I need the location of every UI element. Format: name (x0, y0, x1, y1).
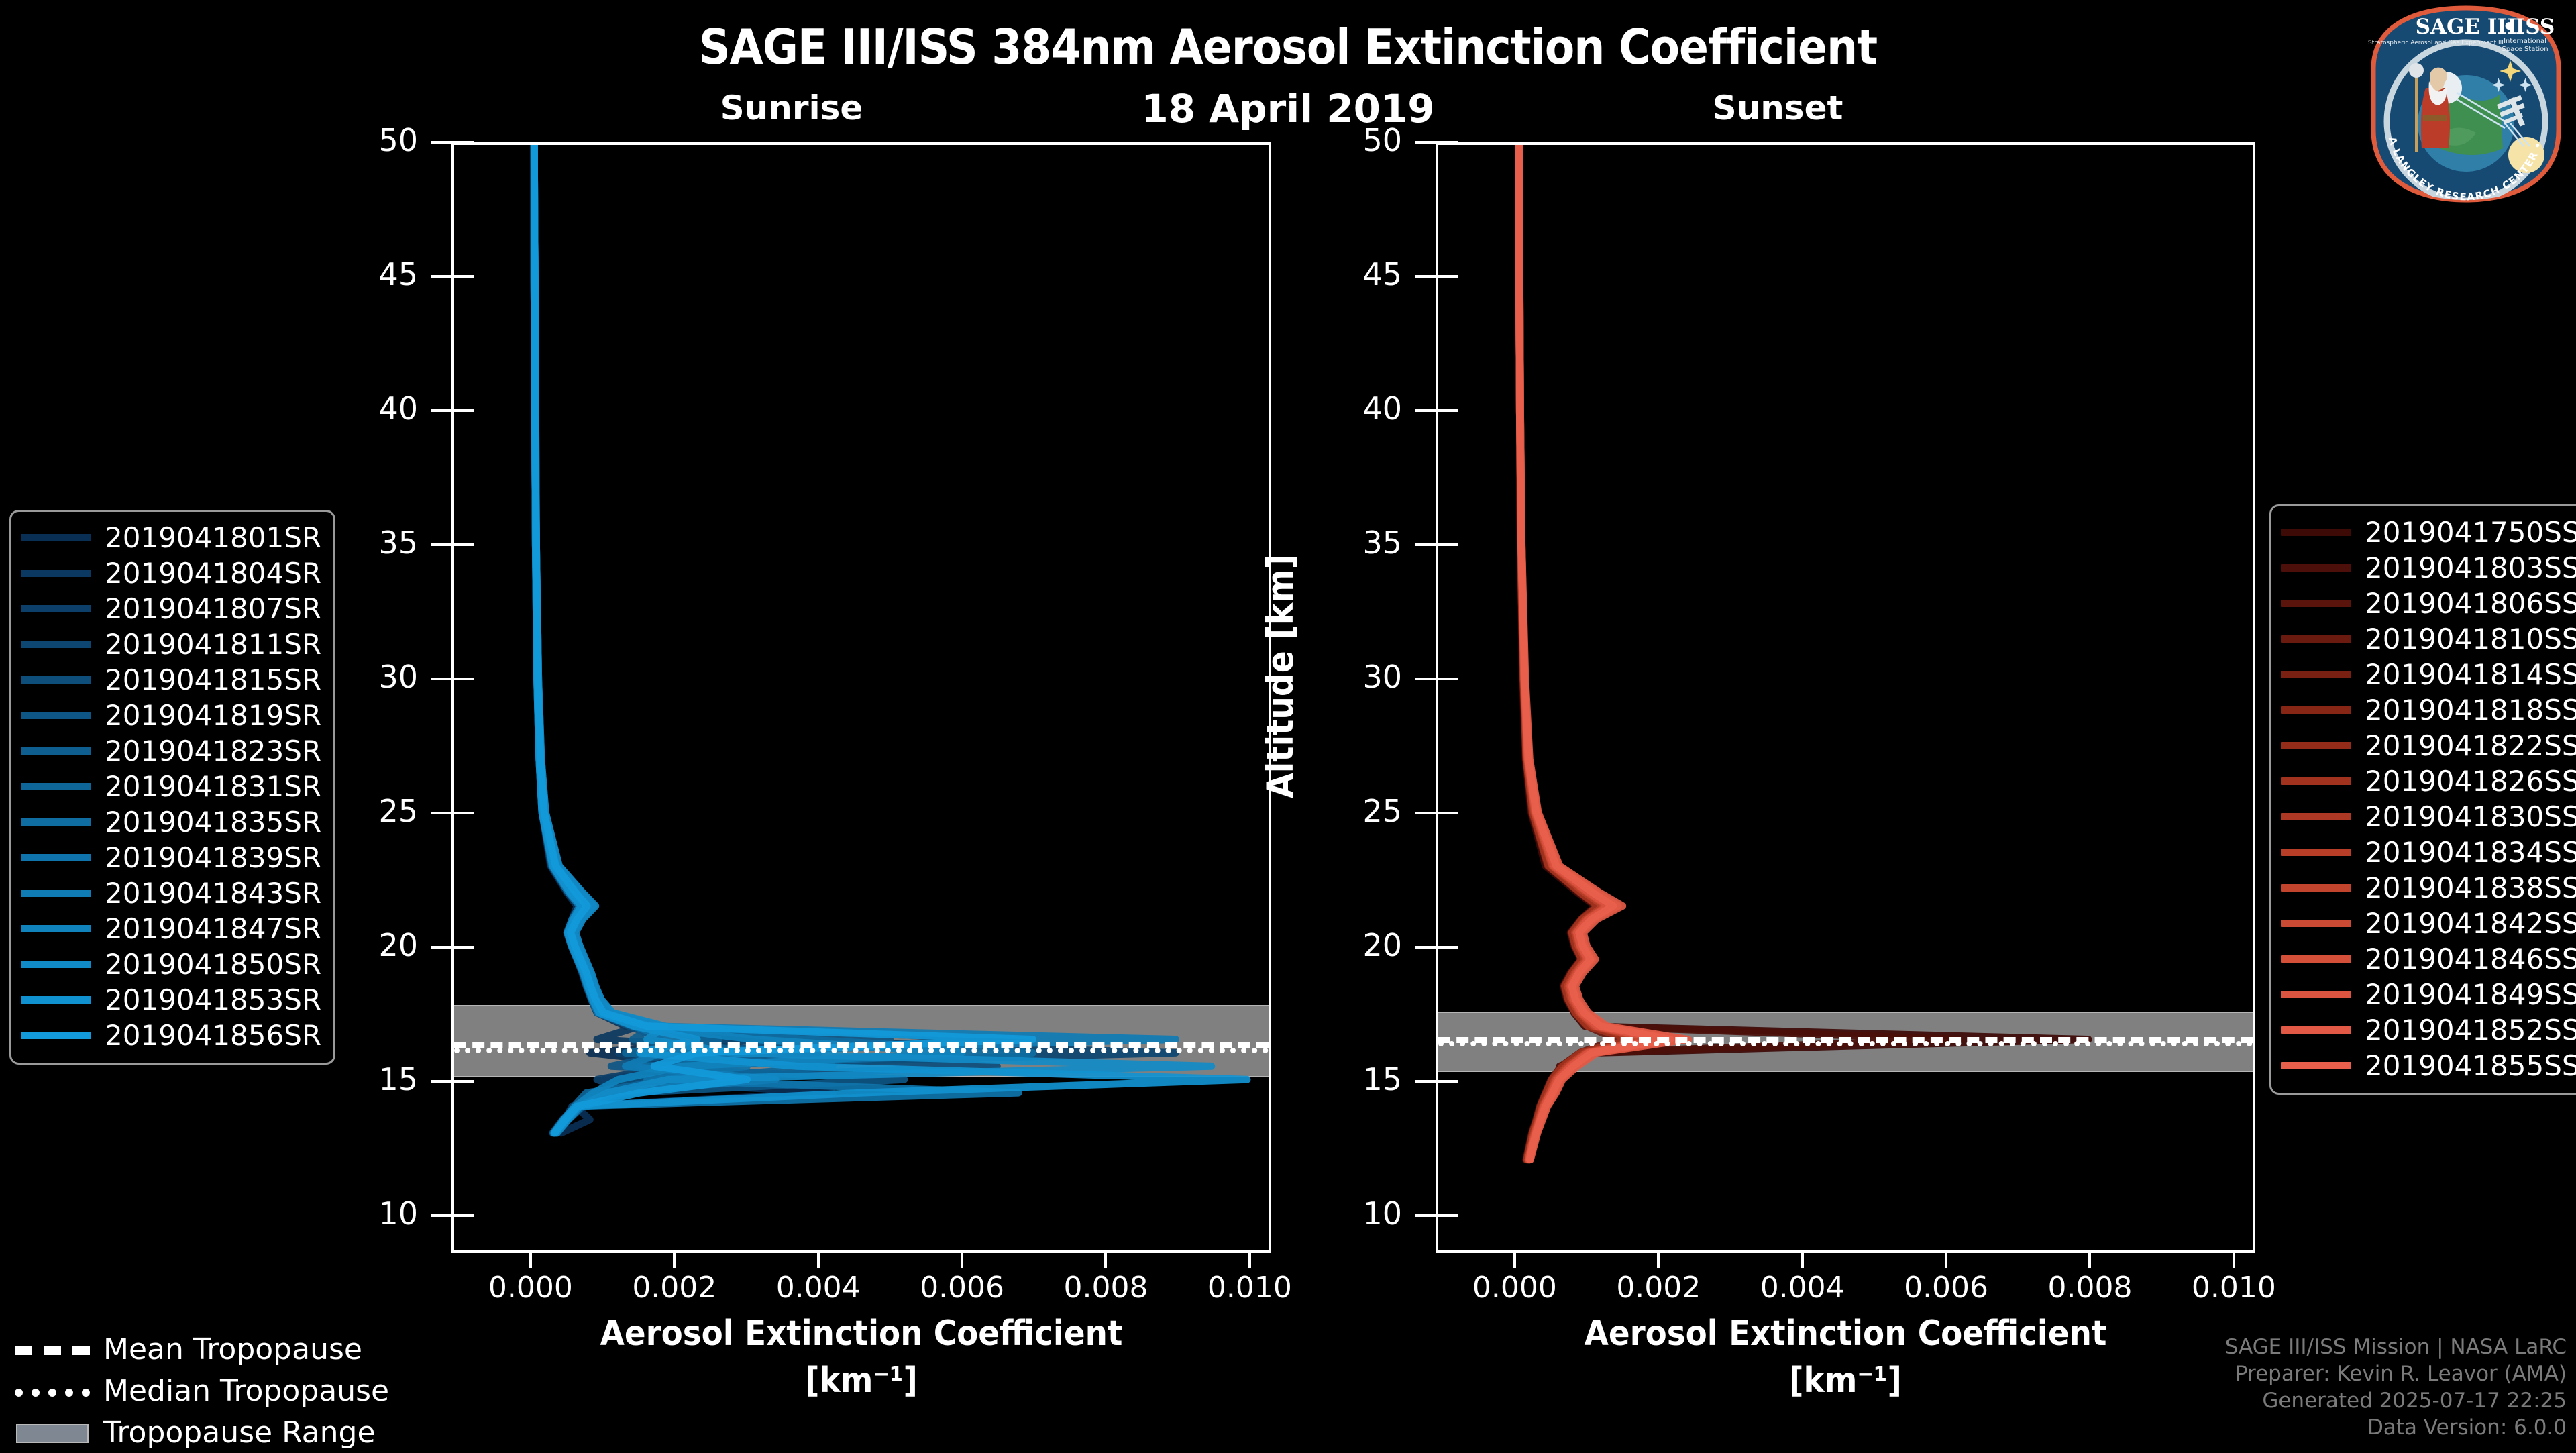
x-axis-tick (1248, 1253, 1251, 1268)
y-axis-tick (1415, 946, 1458, 949)
legend-item[interactable]: 2019041849SS (2281, 977, 2576, 1012)
legend-item[interactable]: 2019041815SR (21, 662, 321, 698)
legend-label: 2019041831SR (105, 770, 321, 803)
legend-item[interactable]: 2019041811SR (21, 627, 321, 662)
legend-label: 2019041846SS (2365, 943, 2576, 975)
y-axis-tick (431, 1080, 474, 1083)
y-axis-tick-label: 40 (1301, 390, 1402, 427)
legend-color-swatch (2281, 635, 2351, 643)
profile-line (1519, 145, 2088, 1160)
tropopause-range-label: Tropopause Range (103, 1415, 376, 1450)
legend-color-swatch (2281, 600, 2351, 607)
legend-item[interactable]: 2019041814SS (2281, 657, 2576, 692)
legend-item[interactable]: 2019041801SR (21, 520, 321, 555)
sunset-plot-area (1436, 142, 2255, 1253)
profile-line (1519, 145, 1688, 1160)
sunrise-profile-curves (454, 145, 1269, 1250)
legend-label: 2019041803SS (2365, 551, 2576, 584)
mean-tropopause-line-right (1438, 1037, 2253, 1043)
legend-item[interactable]: 2019041856SR (21, 1018, 321, 1053)
y-axis-tick (1415, 1080, 1458, 1083)
legend-color-swatch (2281, 564, 2351, 572)
profile-line (534, 145, 1032, 1133)
legend-label: 2019041830SS (2365, 800, 2576, 833)
legend-label: 2019041835SR (105, 806, 321, 839)
median-tropopause-line-left (454, 1048, 1269, 1053)
legend-item[interactable]: 2019041834SS (2281, 835, 2576, 870)
legend-label: 2019041818SS (2365, 694, 2576, 726)
legend-label: 2019041819SR (105, 699, 321, 732)
legend-color-swatch (21, 925, 91, 932)
legend-color-swatch (21, 641, 91, 648)
legend-color-swatch (2281, 1026, 2351, 1034)
logo-subtitle-right-1: International (2504, 38, 2546, 45)
legend-item[interactable]: 2019041842SS (2281, 906, 2576, 941)
legend-color-swatch (21, 712, 91, 719)
profile-line (1519, 145, 1617, 1160)
legend-item[interactable]: 2019041852SS (2281, 1012, 2576, 1048)
date-label: 18 April 2019 (1046, 86, 1529, 131)
legend-color-swatch (21, 570, 91, 577)
legend-label: 2019041852SS (2365, 1014, 2576, 1046)
profile-line (534, 145, 1175, 1133)
footer-generated: Generated 2025-07-17 22:25 (2225, 1387, 2567, 1414)
x-axis-tick (1657, 1253, 1660, 1268)
logo-separator: • (2502, 15, 2516, 39)
legend-item[interactable]: 2019041804SR (21, 555, 321, 591)
legend-label: 2019041822SS (2365, 729, 2576, 762)
legend-item[interactable]: 2019041810SS (2281, 621, 2576, 657)
legend-label: 2019041850SR (105, 948, 321, 981)
x-axis-tick-label: 0.000 (1441, 1271, 1589, 1305)
x-axis-units-right: [km⁻¹] (1436, 1360, 2255, 1401)
legend-item[interactable]: 2019041803SS (2281, 550, 2576, 586)
legend-label: 2019041806SS (2365, 587, 2576, 620)
legend-label: 2019041807SR (105, 592, 321, 625)
legend-color-swatch (2281, 671, 2351, 678)
legend-color-swatch (21, 890, 91, 897)
profile-line (534, 145, 1032, 1133)
x-axis-tick-label: 0.008 (1032, 1271, 1179, 1305)
profile-line (534, 145, 1247, 1133)
legend-item[interactable]: 2019041819SR (21, 698, 321, 733)
legend-color-swatch (21, 996, 91, 1004)
sunrise-legend[interactable]: 2019041801SR2019041804SR2019041807SR2019… (9, 510, 335, 1065)
y-axis-tick-label: 50 (1301, 122, 1402, 158)
legend-color-swatch (2281, 529, 2351, 536)
x-axis-tick-label: 0.006 (1872, 1271, 2020, 1305)
legend-item[interactable]: 2019041838SS (2281, 870, 2576, 906)
logo-subtitle-right-2: Space Station (2502, 46, 2548, 53)
x-axis-tick-label: 0.008 (2016, 1271, 2163, 1305)
legend-item[interactable]: 2019041855SS (2281, 1048, 2576, 1083)
legend-item[interactable]: 2019041831SR (21, 769, 321, 804)
x-axis-tick-label: 0.010 (1176, 1271, 1324, 1305)
y-axis-tick (431, 812, 474, 814)
x-axis-tick-label: 0.004 (745, 1271, 892, 1305)
x-axis-title-left: Aerosol Extinction Coefficient (451, 1313, 1271, 1354)
page-title: SAGE III/ISS 384nm Aerosol Extinction Co… (0, 19, 2576, 75)
legend-item[interactable]: 2019041847SR (21, 911, 321, 947)
sunset-panel-label: Sunset (1610, 89, 1945, 127)
x-axis-tick-label: 0.000 (457, 1271, 604, 1305)
y-axis-tick (1415, 543, 1458, 546)
legend-item[interactable]: 2019041839SR (21, 840, 321, 875)
x-axis-tick-label: 0.006 (888, 1271, 1036, 1305)
legend-label: 2019041838SS (2365, 871, 2576, 904)
legend-label: 2019041849SS (2365, 978, 2576, 1011)
legend-item[interactable]: 2019041818SS (2281, 692, 2576, 728)
x-axis-tick-label: 0.002 (1585, 1271, 1732, 1305)
legend-label: 2019041823SR (105, 735, 321, 767)
y-axis-tick (431, 1214, 474, 1217)
legend-label: 2019041834SS (2365, 836, 2576, 869)
y-axis-tick-label: 45 (1301, 256, 1402, 292)
dotted-line-icon (15, 1382, 90, 1399)
x-axis-tick (1945, 1253, 1947, 1268)
y-axis-tick (1415, 1214, 1458, 1217)
x-axis-tick-label: 0.002 (600, 1271, 748, 1305)
legend-label: 2019041811SR (105, 628, 321, 661)
legend-item-mean-tropopause: Mean Tropopause (15, 1328, 389, 1370)
x-axis-tick (673, 1253, 676, 1268)
legend-item[interactable]: 2019041853SR (21, 982, 321, 1018)
logo-title: SAGE III (2416, 15, 2517, 39)
x-axis-tick (2088, 1253, 2091, 1268)
legend-color-swatch (2281, 884, 2351, 892)
y-axis-tick-label: 10 (317, 1195, 418, 1232)
footer-preparer: Preparer: Kevin R. Leavor (AMA) (2225, 1360, 2567, 1387)
legend-color-swatch (21, 747, 91, 755)
legend-label: 2019041826SS (2365, 765, 2576, 798)
legend-label: 2019041842SS (2365, 907, 2576, 940)
legend-color-swatch (21, 534, 91, 541)
legend-item[interactable]: 2019041807SR (21, 591, 321, 627)
mean-tropopause-line-left (454, 1042, 1269, 1048)
legend-item[interactable]: 2019041843SR (21, 875, 321, 911)
legend-color-swatch (2281, 742, 2351, 749)
y-axis-tick-label: 45 (317, 256, 418, 292)
x-axis-tick (529, 1253, 532, 1268)
legend-item[interactable]: 2019041822SS (2281, 728, 2576, 763)
y-axis-tick-label: 40 (317, 390, 418, 427)
legend-item-tropopause-range: Tropopause Range (15, 1411, 389, 1453)
profile-line (534, 145, 1018, 1133)
legend-color-swatch (2281, 706, 2351, 714)
y-axis-tick (431, 543, 474, 546)
legend-color-swatch (2281, 920, 2351, 927)
legend-label: 2019041815SR (105, 663, 321, 696)
y-axis-tick-label: 15 (317, 1061, 418, 1097)
legend-label: 2019041847SR (105, 912, 321, 945)
profile-line (1519, 145, 1681, 1160)
sunset-profile-curves (1438, 145, 2253, 1250)
y-axis-tick-label: 10 (1301, 1195, 1402, 1232)
profile-line (534, 145, 997, 1133)
mean-tropopause-label: Mean Tropopause (103, 1332, 362, 1366)
legend-label: 2019041804SR (105, 557, 321, 590)
legend-color-swatch (21, 818, 91, 826)
legend-color-swatch (21, 1032, 91, 1039)
profile-line (534, 145, 1212, 1133)
legend-item[interactable]: 2019041806SS (2281, 586, 2576, 621)
sunrise-panel-label: Sunrise (624, 89, 959, 127)
y-axis-tick (431, 678, 474, 680)
legend-color-swatch (21, 961, 91, 968)
x-axis-tick (2233, 1253, 2235, 1268)
legend-label: 2019041814SS (2365, 658, 2576, 691)
y-axis-tick-label: 15 (1301, 1061, 1402, 1097)
profile-line (1519, 145, 1670, 1160)
sunset-legend[interactable]: 2019041750SS2019041803SS2019041806SS2019… (2269, 504, 2576, 1095)
legend-color-swatch (21, 854, 91, 861)
legend-item[interactable]: 2019041750SS (2281, 515, 2576, 550)
median-tropopause-label: Median Tropopause (103, 1374, 389, 1408)
y-axis-tick (1415, 812, 1458, 814)
y-axis-tick (431, 275, 474, 278)
legend-item[interactable]: 2019041826SS (2281, 763, 2576, 799)
legend-color-swatch (21, 676, 91, 684)
y-axis-tick (431, 141, 474, 144)
filled-band-icon (15, 1423, 90, 1441)
profile-line (534, 145, 833, 1133)
x-axis-tick (1104, 1253, 1107, 1268)
profile-line (534, 145, 768, 1133)
legend-color-swatch (2281, 777, 2351, 785)
x-axis-tick-label: 0.004 (1729, 1271, 1876, 1305)
legend-color-swatch (21, 605, 91, 612)
legend-item[interactable]: 2019041835SR (21, 804, 321, 840)
y-axis-tick (1415, 141, 1458, 144)
sage-iii-iss-logo-icon: SAGE III • ISS Stratospheric Aerosol and… (2365, 4, 2567, 205)
legend-label: 2019041839SR (105, 841, 321, 874)
y-axis-tick (431, 946, 474, 949)
y-axis-tick (1415, 678, 1458, 680)
profile-line (1519, 145, 1674, 1160)
profile-line (1519, 145, 1660, 1160)
tropopause-legend: Mean Tropopause Median Tropopause Tropop… (15, 1328, 389, 1453)
y-axis-tick-label: 35 (1301, 525, 1402, 561)
profile-line (1519, 145, 1660, 1160)
legend-color-swatch (2281, 813, 2351, 820)
x-axis-units-left: [km⁻¹] (451, 1360, 1271, 1401)
profile-line (534, 145, 1032, 1133)
dashed-line-icon (15, 1340, 90, 1358)
legend-color-swatch (21, 783, 91, 790)
legend-item[interactable]: 2019041846SS (2281, 941, 2576, 977)
legend-color-swatch (2281, 1062, 2351, 1069)
profile-line (534, 145, 833, 1133)
logo-subtitle-left: Stratospheric Aerosol and Gas Experiment… (2368, 40, 2504, 46)
x-axis-title-right: Aerosol Extinction Coefficient (1436, 1313, 2255, 1354)
y-axis-tick (1415, 409, 1458, 412)
logo-iss: ISS (2516, 15, 2555, 39)
legend-label: 2019041810SS (2365, 623, 2576, 655)
legend-item-median-tropopause: Median Tropopause (15, 1370, 389, 1411)
profile-line (1519, 145, 1666, 1160)
x-axis-tick (817, 1253, 820, 1268)
sunrise-plot-area (451, 142, 1271, 1253)
footer-data-version: Data Version: 6.0.0 (2225, 1414, 2567, 1441)
legend-label: 2019041856SR (105, 1019, 321, 1052)
profile-line (534, 145, 1175, 1133)
legend-item[interactable]: 2019041850SR (21, 947, 321, 982)
legend-label: 2019041801SR (105, 521, 321, 554)
profile-line (534, 145, 818, 1133)
footer-mission: SAGE III/ISS Mission | NASA LaRC (2225, 1334, 2567, 1360)
legend-label: 2019041855SS (2365, 1049, 2576, 1082)
legend-label: 2019041750SS (2365, 516, 2576, 549)
x-axis-tick (961, 1253, 963, 1268)
legend-color-swatch (2281, 991, 2351, 998)
y-axis-tick-label: 50 (317, 122, 418, 158)
footer-credits: SAGE III/ISS Mission | NASA LaRC Prepare… (2225, 1334, 2567, 1441)
legend-label: 2019041853SR (105, 983, 321, 1016)
x-axis-tick (1513, 1253, 1516, 1268)
y-axis-tick-label: 25 (1301, 793, 1402, 829)
x-axis-tick (1801, 1253, 1804, 1268)
legend-item[interactable]: 2019041830SS (2281, 799, 2576, 835)
y-axis-tick (1415, 275, 1458, 278)
legend-color-swatch (2281, 849, 2351, 856)
y-axis-tick-label: 30 (1301, 659, 1402, 695)
legend-item[interactable]: 2019041823SR (21, 733, 321, 769)
y-axis-tick (431, 409, 474, 412)
legend-label: 2019041843SR (105, 877, 321, 910)
x-axis-tick-label: 0.010 (2160, 1271, 2308, 1305)
legend-color-swatch (2281, 955, 2351, 963)
y-axis-tick-label: 20 (1301, 927, 1402, 963)
y-axis-title-right: Altitude [km] (1259, 554, 1301, 798)
